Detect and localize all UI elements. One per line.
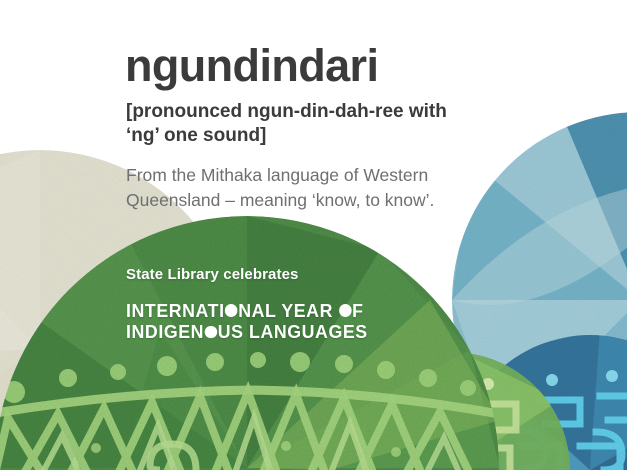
pronunciation-block: [pronounced ngun-din-dah-ree with ‘ng’ o… [126,100,526,149]
pronunciation-line-1: [pronounced ngun-din-dah-ree with [126,100,526,124]
campaign-title-line-1-part-1: INTERNATI [126,300,225,321]
origin-line-2: Queensland – meaning ‘know, to know’. [126,188,526,213]
campaign-title-line-2-part-1: INDIGEN [126,321,204,342]
campaign-title-line-2: INDIGENUS LANGUAGES [126,321,368,342]
campaign-title-line-2-part-2: US LANGUAGES [218,321,368,342]
dot-o-icon [225,304,237,317]
text-layer: ngundindari [pronounced ngun-din-dah-ree… [0,0,627,470]
campaign-title: INTERNATINAL YEAR F INDIGENUS LANGUAGES [126,300,368,343]
campaign-title-line-1-part-2: NAL YEAR [238,300,338,321]
page-title: ngundindari [125,43,585,88]
dot-o-icon [205,326,217,339]
dot-o-icon [339,304,351,317]
poster-canvas: ngundindari [pronounced ngun-din-dah-ree… [0,0,627,470]
campaign-title-line-1-part-3: F [352,300,363,321]
campaign-title-line-1: INTERNATINAL YEAR F [126,300,368,321]
origin-block: From the Mithaka language of Western Que… [126,163,526,213]
pronunciation-line-2: ‘ng’ one sound] [126,124,526,148]
campaign-kicker: State Library celebrates [126,266,298,283]
origin-line-1: From the Mithaka language of Western [126,163,526,188]
